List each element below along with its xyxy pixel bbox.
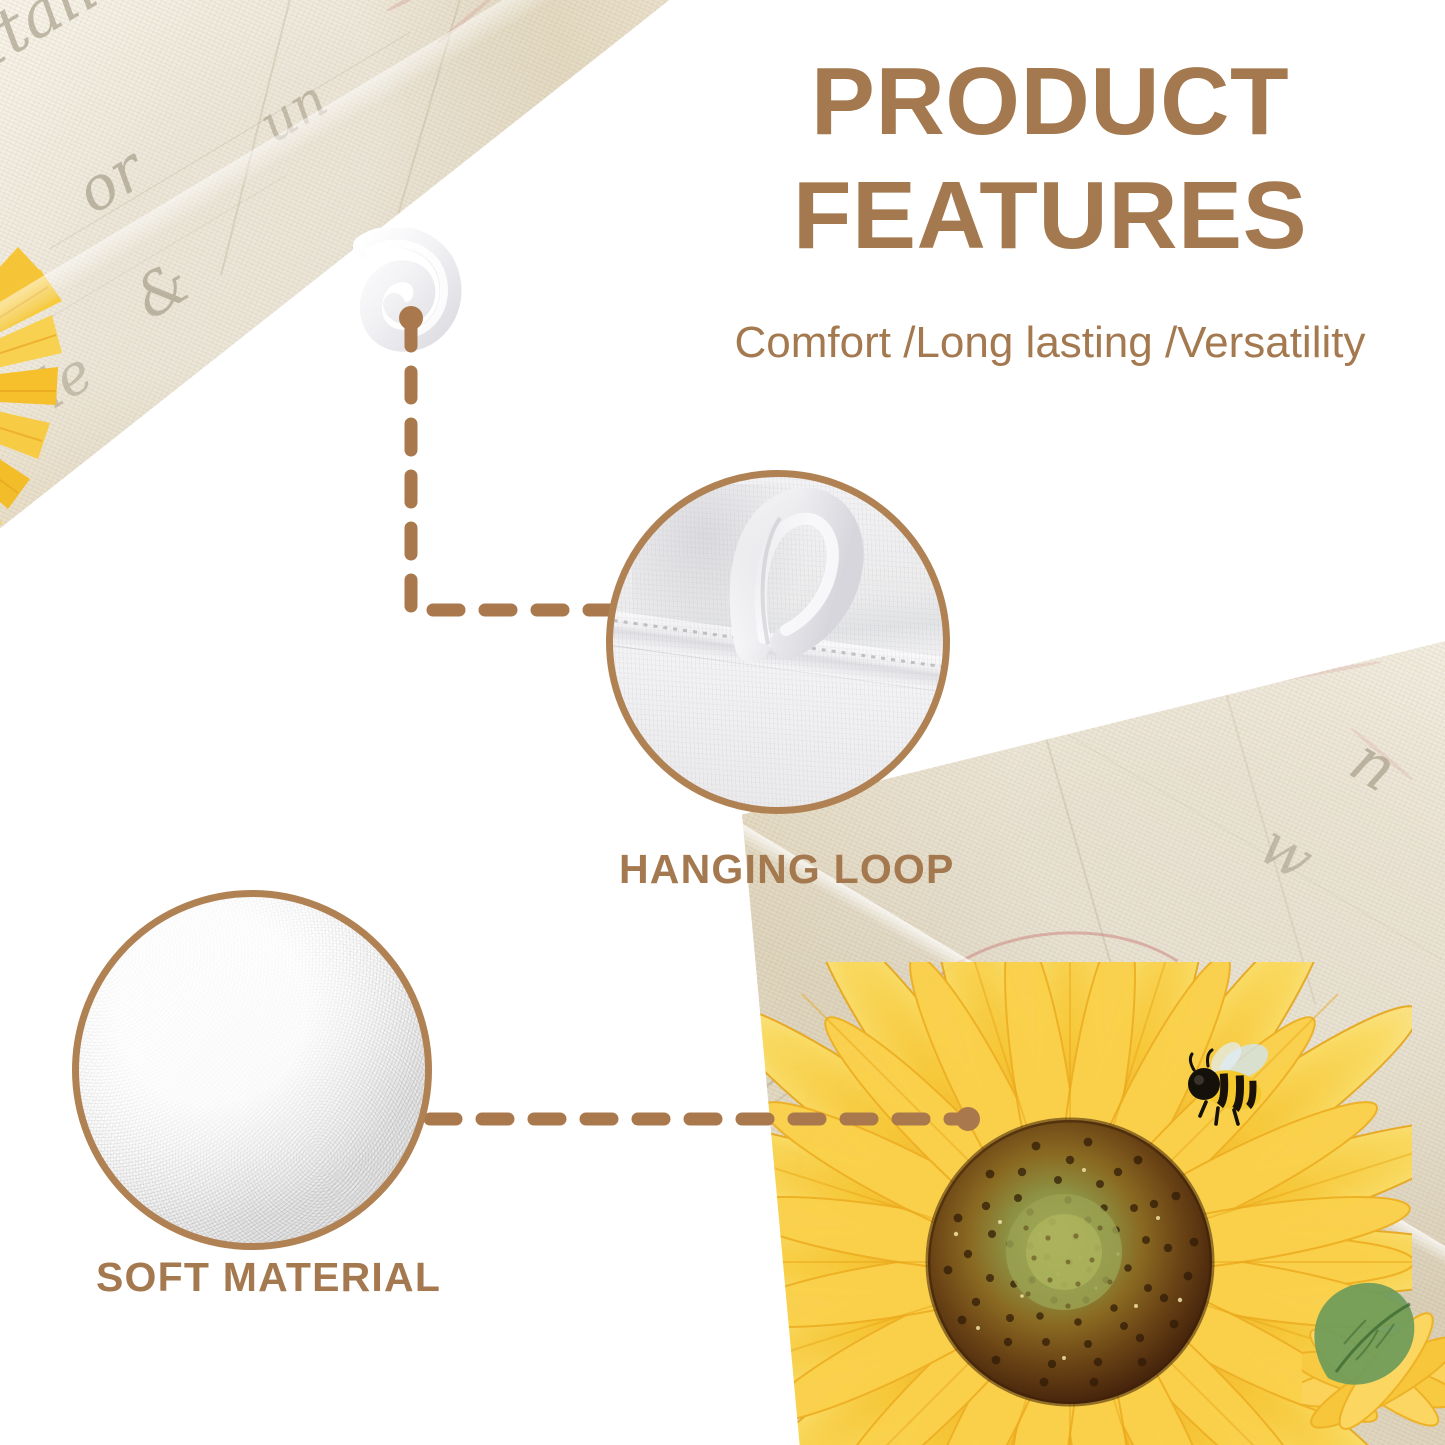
callout-label-hanging-loop: HANGING LOOP xyxy=(619,846,955,893)
callout-ring-soft-material xyxy=(72,890,432,1250)
callout-ring-hanging-loop xyxy=(606,470,950,814)
page-title-line-1: PRODUCT xyxy=(700,52,1400,152)
bee-icon xyxy=(1182,1040,1292,1130)
vintage-print-mark xyxy=(1167,632,1226,665)
dashed-connector-soft-material xyxy=(424,1100,994,1140)
callout-label-soft-material: SOFT MATERIAL xyxy=(96,1254,441,1301)
sunflower-icon xyxy=(1302,1192,1445,1445)
infographic-canvas: Italia or un & le xyxy=(0,0,1445,1445)
connector-dot-soft-material xyxy=(956,1107,980,1131)
page-title-line-2: FEATURES xyxy=(700,166,1400,266)
